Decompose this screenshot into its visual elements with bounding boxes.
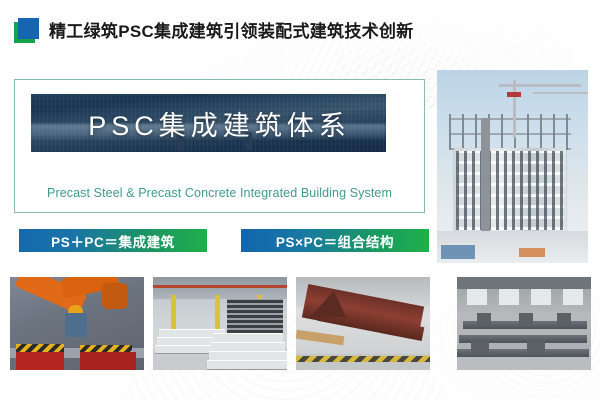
- concrete-slab: [207, 360, 287, 369]
- workshop-window: [531, 289, 551, 305]
- slide-canvas: 精工绿筑PSC集成建筑引领装配式建筑技术创新 PSC集成建筑体系 Precast…: [0, 0, 600, 400]
- page-title: 精工绿筑PSC集成建筑引领装配式建筑技术创新: [49, 23, 414, 40]
- concrete-slab: [213, 333, 283, 342]
- crane-counterweight-icon: [507, 92, 521, 97]
- label-bar-integrated-building: PS＋PC＝集成建筑: [19, 229, 207, 252]
- steel-beam-photo: [296, 277, 430, 370]
- machine-base-red: [16, 352, 64, 370]
- steel-frame-top: [449, 114, 571, 150]
- crane-mast-icon: [513, 80, 516, 138]
- logo-squares-icon: [14, 18, 40, 44]
- header: 精工绿筑PSC集成建筑引领装配式建筑技术创新: [14, 18, 414, 44]
- site-material-orange: [519, 248, 545, 257]
- english-subtitle: Precast Steel & Precast Concrete Integra…: [14, 186, 425, 200]
- wood-plank: [296, 330, 344, 346]
- stacked-steel-rack: [227, 299, 283, 333]
- banner-cityscape-image: PSC集成建筑体系: [31, 94, 386, 152]
- frame-bracket: [477, 313, 491, 325]
- site-container-blue: [441, 245, 475, 259]
- robot-arm-photo: [10, 277, 144, 370]
- roof-beam-red: [153, 285, 287, 288]
- building-facade: [454, 148, 566, 236]
- steel-frame-workshop-photo: [457, 277, 591, 370]
- concrete-slab-stacks-photo: [153, 277, 287, 370]
- hazard-stripe: [16, 344, 64, 352]
- crane-jib-icon: [533, 92, 588, 94]
- machine-base-red: [80, 352, 136, 370]
- hazard-stripe: [296, 356, 430, 362]
- window-grid: [456, 151, 564, 230]
- banner-title: PSC集成建筑体系: [31, 94, 386, 152]
- hazard-stripe: [80, 345, 132, 352]
- beam-end-plate: [310, 291, 346, 317]
- construction-site-photo: [437, 70, 588, 263]
- robot-joint-icon: [102, 283, 128, 309]
- concrete-slab: [209, 351, 287, 360]
- label-bar-composite-structure: PS×PC＝组合结构: [241, 229, 429, 252]
- frame-bracket: [471, 339, 489, 353]
- crane-jib-icon: [499, 84, 581, 87]
- frame-bracket: [557, 313, 571, 325]
- workshop-window: [499, 289, 519, 305]
- workshop-roof: [457, 277, 591, 289]
- worker-body: [65, 313, 87, 337]
- core-column: [481, 118, 490, 238]
- frame-bracket: [527, 339, 545, 353]
- concrete-slab: [211, 342, 285, 351]
- square-blue-icon: [18, 18, 39, 39]
- frame-bracket: [519, 313, 533, 325]
- workshop-window: [563, 289, 583, 305]
- workshop-window: [467, 289, 487, 305]
